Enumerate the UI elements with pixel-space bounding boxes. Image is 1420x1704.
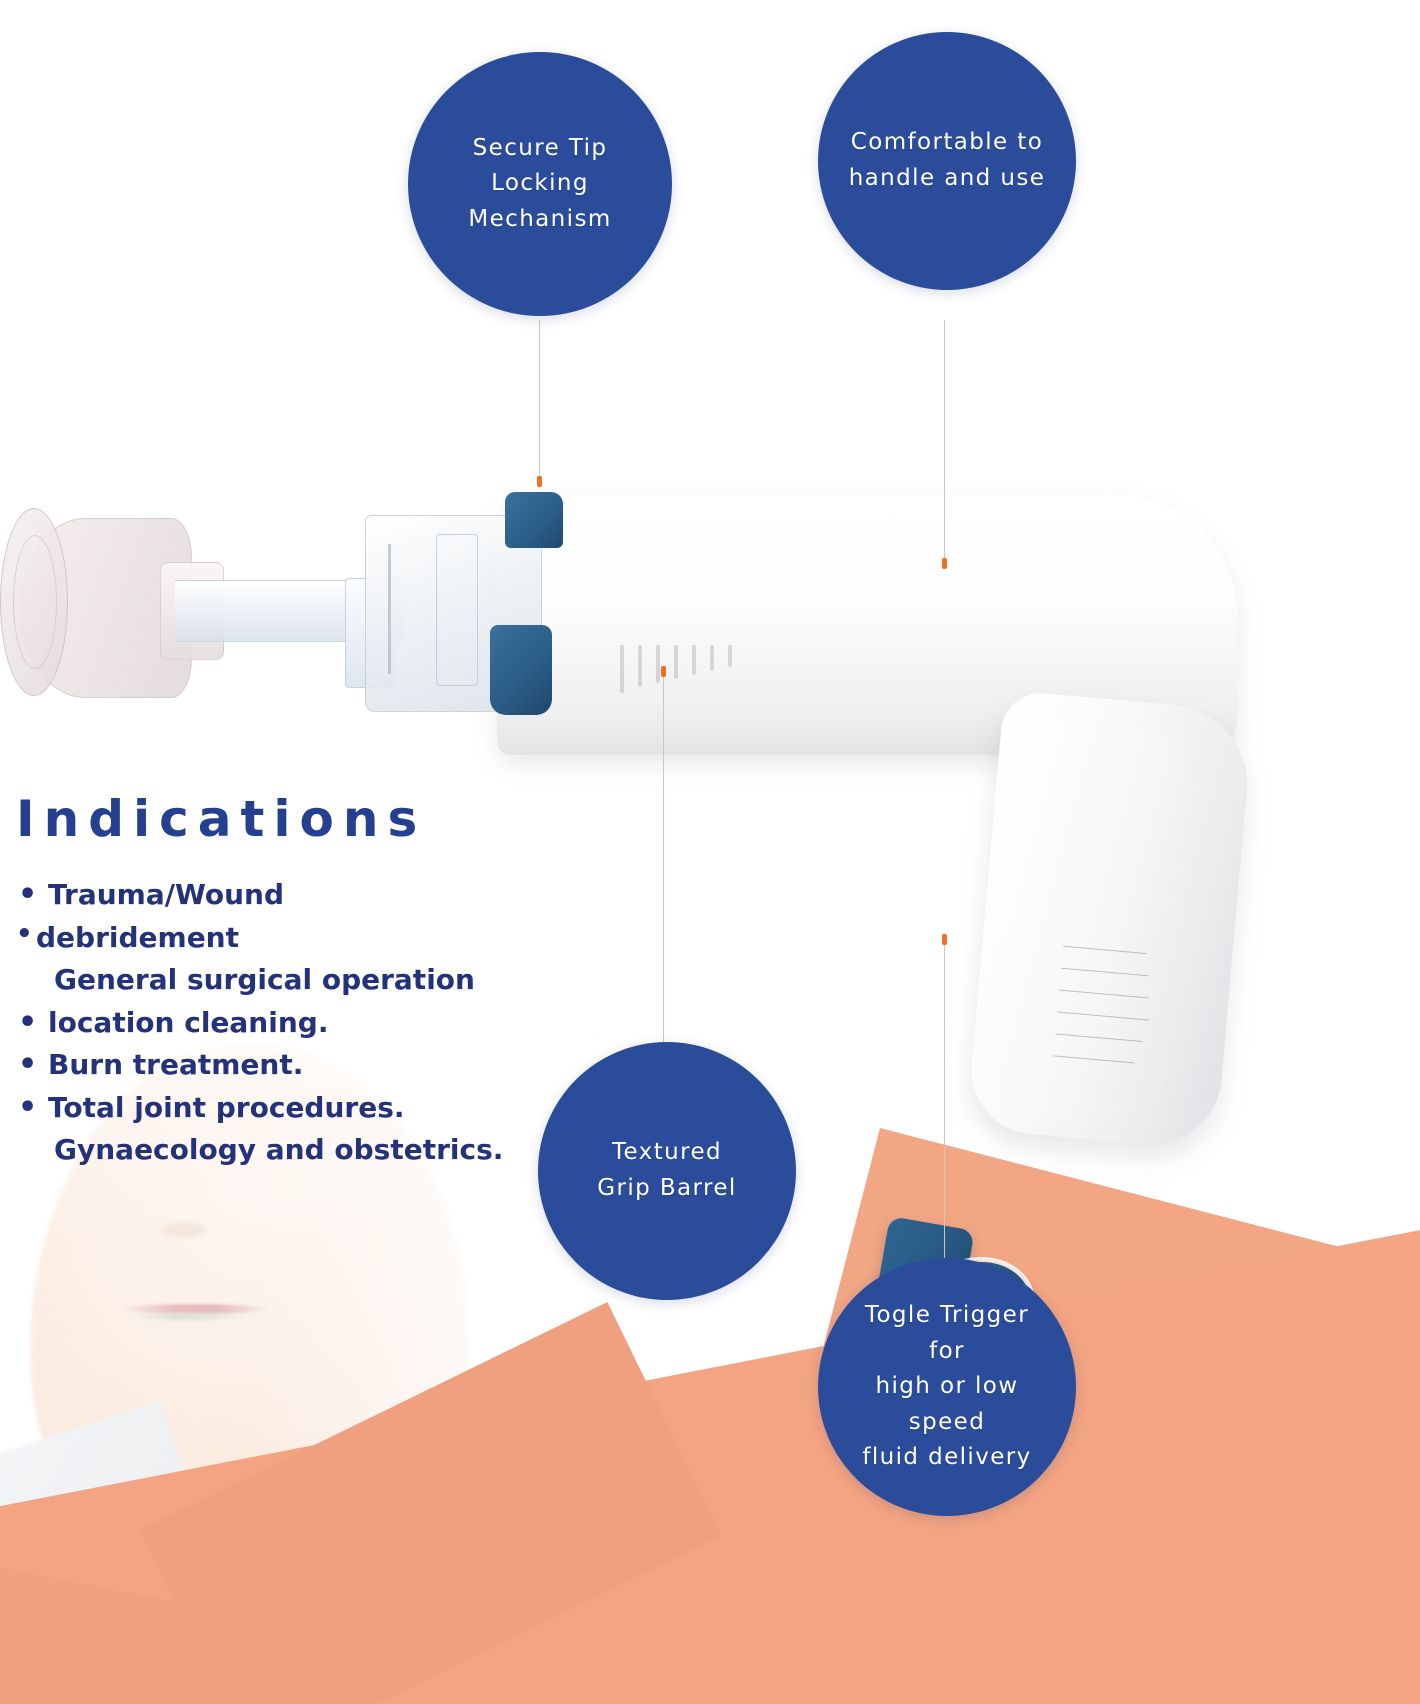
list-item: Gynaecology and obstetrics. [10,1129,570,1172]
infographic-canvas: Secure Tip Locking Mechanism Comfortable… [0,0,1420,1704]
list-item: General surgical operation [10,959,570,1002]
callout-comfortable-handle-text: Comfortable to handle and use [823,125,1072,196]
callout-textured-grip-barrel[interactable]: Textured Grip Barrel [538,1042,796,1300]
splash-shield-rim [0,508,68,696]
list-item: Total joint procedures. [10,1087,570,1130]
leader-line-secure-tip [539,320,540,478]
leader-marker-comfortable [942,558,947,569]
leader-marker-secure-tip [537,476,542,487]
callout-togle-trigger-text: Togle Trigger for high or low speed flui… [818,1298,1076,1476]
leader-line-textured-grip [663,672,664,1042]
tip-lock-upper [505,492,563,548]
callout-textured-grip-barrel-text: Textured Grip Barrel [571,1135,762,1206]
indications-list: Trauma/Wound debridement General surgica… [10,874,570,1172]
list-item: Burn treatment. [10,1044,570,1087]
callout-secure-tip-locking[interactable]: Secure Tip Locking Mechanism [408,52,672,316]
callout-secure-tip-locking-text: Secure Tip Locking Mechanism [408,131,672,238]
barrel-texture-ridges [620,645,805,693]
callout-togle-trigger[interactable]: Togle Trigger for high or low speed flui… [818,1258,1076,1516]
tip-lock-lower [490,625,552,715]
leader-marker-textured-grip [661,666,666,677]
grip-texture-ridges [1047,946,1167,1134]
list-item: location cleaning. [10,1002,570,1045]
list-item: Trauma/Wound [10,874,570,917]
list-item: debridement [10,917,570,960]
indications-title: Indications [16,790,570,848]
leader-line-comfortable [944,320,945,560]
leader-line-togle-trigger [944,940,945,1260]
leader-marker-togle-trigger [942,934,947,945]
callout-comfortable-handle[interactable]: Comfortable to handle and use [818,32,1076,290]
indications-block: Indications Trauma/Wound debridement Gen… [10,790,570,1172]
